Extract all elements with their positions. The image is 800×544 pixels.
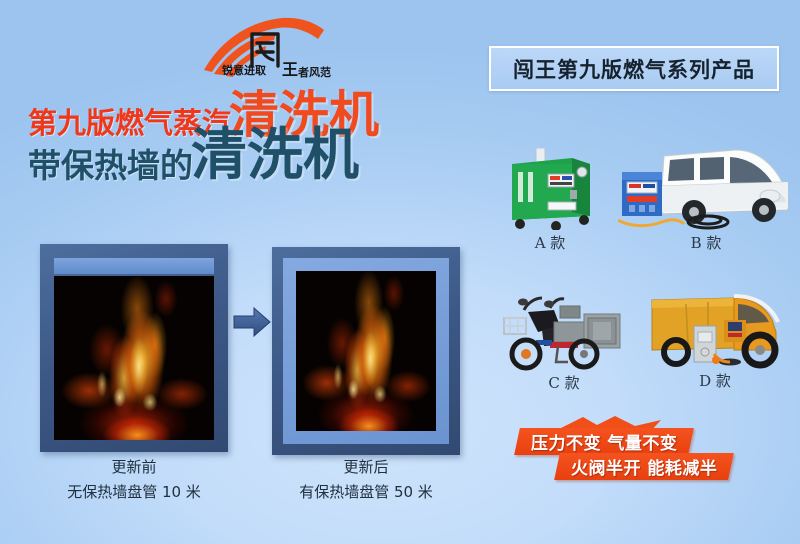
- after-panel: [272, 247, 460, 455]
- right-arrow-icon: [232, 305, 272, 339]
- before-caption: 更新前 无保热墙盘管 10 米: [4, 455, 264, 505]
- orange-cargo-tricycle-icon: [638, 286, 792, 370]
- logo-tagline-wang: 王: [282, 60, 298, 79]
- after-fire-image: [296, 271, 436, 431]
- before-caption-heading: 更新前: [4, 455, 264, 479]
- before-fire-image: [54, 276, 214, 440]
- title-line-2: 带保热墙的 清洗机: [28, 130, 359, 182]
- product-c[interactable]: C 款: [498, 292, 630, 388]
- logo-tagline-left: 锐意进取: [222, 63, 266, 77]
- product-b[interactable]: B 款: [618, 140, 794, 248]
- logo-graphic: 锐意进取 王 者风范: [196, 12, 332, 88]
- title-line2-small: 带保热墙的: [28, 149, 193, 182]
- poster-canvas: 锐意进取 王 者风范 第九版燃气蒸汽 清洗机 带保热墙的 清洗机 闯王第九版燃气…: [0, 0, 800, 544]
- series-banner: 闯王第九版燃气系列产品: [489, 46, 779, 91]
- green-steam-cleaner-machine-icon: [498, 148, 602, 230]
- product-d-label: D 款: [638, 370, 792, 391]
- slogan-line-2: 火阀半开 能耗减半: [554, 453, 734, 480]
- before-caption-detail: 无保热墙盘管 10 米: [4, 479, 264, 505]
- product-b-label: B 款: [618, 232, 794, 253]
- before-coil-accent: [54, 258, 214, 274]
- title-line2-big: 清洗机: [191, 130, 359, 182]
- electric-scooter-with-equipment-icon: [498, 292, 630, 372]
- slogan-line-1-text: 压力不变 气量不变: [531, 429, 677, 454]
- white-van-with-blue-machine-icon: [618, 140, 794, 230]
- series-banner-label: 闯王第九版燃气系列产品: [513, 54, 755, 84]
- after-caption-heading: 更新后: [236, 455, 496, 479]
- slogan-line-1: 压力不变 气量不变: [514, 428, 694, 455]
- after-caption-detail: 有保热墙盘管 50 米: [236, 479, 496, 505]
- product-d[interactable]: D 款: [638, 286, 792, 388]
- page-title: 第九版燃气蒸汽 清洗机 带保热墙的 清洗机: [28, 98, 478, 184]
- product-a[interactable]: A 款: [498, 148, 602, 248]
- slogan-line-2-text: 火阀半开 能耗减半: [571, 454, 717, 479]
- brand-logo: 锐意进取 王 者风范: [196, 12, 332, 88]
- logo-tagline-right: 者风范: [297, 65, 331, 79]
- slogan-banner: 压力不变 气量不变 火阀半开 能耗减半: [505, 418, 797, 480]
- product-a-label: A 款: [498, 232, 602, 253]
- product-c-label: C 款: [498, 372, 630, 393]
- before-panel: [40, 244, 228, 452]
- after-caption: 更新后 有保热墙盘管 50 米: [236, 455, 496, 505]
